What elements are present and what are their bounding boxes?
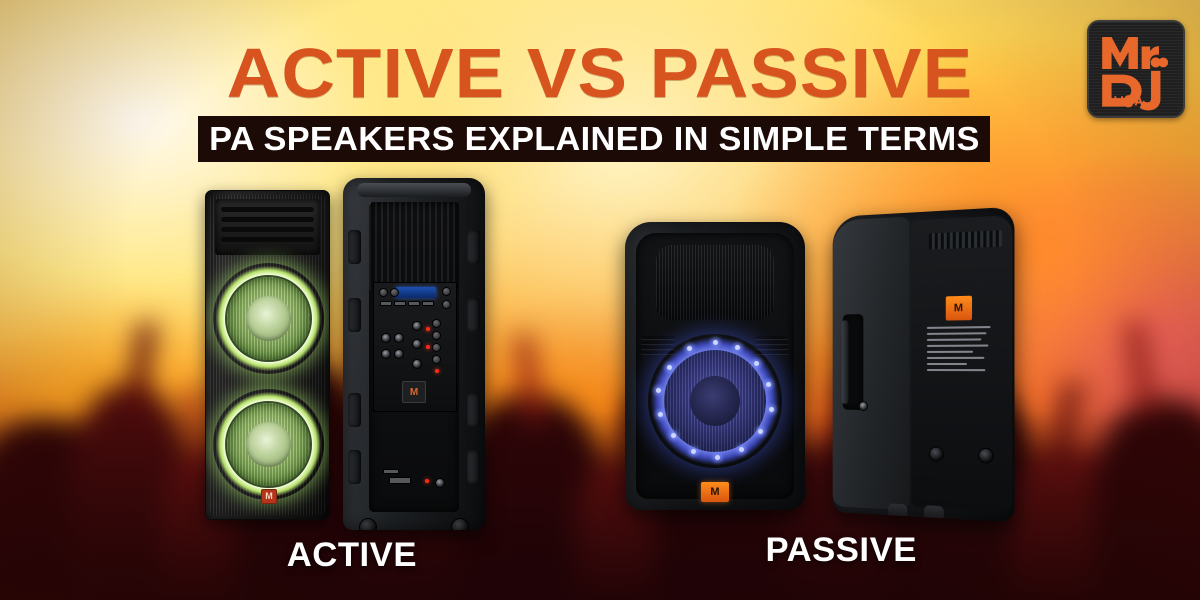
- power-inlet: [435, 478, 445, 488]
- spec-text-lines: [927, 326, 994, 375]
- mr-dj-usa-logo[interactable]: [1087, 20, 1185, 118]
- spec-brand-badge: M: [945, 296, 971, 321]
- tweeter-grille: [656, 245, 775, 320]
- power-switch: [389, 477, 411, 484]
- side-handle: [467, 230, 480, 264]
- clip-led: [426, 327, 430, 331]
- side-handle: [348, 450, 361, 484]
- xlr-jack: [381, 349, 391, 359]
- spec-label: M: [927, 296, 994, 426]
- product-active-front[interactable]: M: [205, 190, 330, 520]
- xlr-jack: [394, 333, 404, 343]
- side-handle: [348, 230, 361, 264]
- power-led: [435, 369, 439, 373]
- xlr-jack: [381, 333, 391, 343]
- side-handle: [348, 298, 361, 332]
- input-jack: [412, 339, 422, 349]
- top-handle: [357, 183, 471, 197]
- woofer: [648, 334, 782, 468]
- woofer-top: [213, 263, 324, 374]
- carry-handle: [842, 320, 848, 403]
- input-jack: [412, 321, 422, 331]
- speaker-cabinet: M: [625, 222, 805, 510]
- amplifier-panel[interactable]: M: [373, 282, 457, 412]
- product-passive-front[interactable]: M: [625, 222, 805, 510]
- xlr-jack: [394, 349, 404, 359]
- subtitle-banner: PA SPEAKERS EXPLAINED IN SIMPLE TERMS: [198, 116, 990, 162]
- lcd-display: [396, 287, 436, 298]
- brand-badge: M: [261, 489, 277, 504]
- rear-ribs: [369, 202, 459, 290]
- side-handle: [467, 450, 480, 484]
- caster-wheel: [451, 518, 469, 530]
- woofer-bottom: [213, 389, 324, 500]
- caster-wheel: [359, 518, 377, 530]
- power-indicator: [425, 479, 429, 483]
- side-handle: [348, 393, 361, 427]
- brand-badge: M: [701, 482, 729, 502]
- rear-face: M: [911, 215, 1012, 512]
- speakon-connector[interactable]: [978, 448, 993, 464]
- poster-canvas: ACTIVE VS PASSIVE PA SPEAKERS EXPLAINED …: [0, 0, 1200, 600]
- cabinet-side: [833, 217, 910, 511]
- caption-active: ACTIVE: [287, 538, 417, 572]
- product-passive-rear[interactable]: M: [828, 212, 1013, 517]
- input-jack: [412, 359, 422, 369]
- heat-vents: [929, 230, 1002, 250]
- subtitle-text: PA SPEAKERS EXPLAINED IN SIMPLE TERMS: [209, 120, 980, 158]
- caption-passive: PASSIVE: [766, 533, 917, 567]
- side-handle: [467, 298, 480, 332]
- clip-led: [426, 345, 430, 349]
- pole-socket: [858, 401, 867, 411]
- horn-panel: [215, 199, 320, 255]
- speakon-connector[interactable]: [929, 446, 944, 462]
- speaker-cabinet: M: [205, 190, 330, 520]
- page-title: ACTIVE VS PASSIVE: [0, 36, 1200, 110]
- amp-brand-badge: M: [402, 381, 426, 403]
- speaker-cabinet-rear: M: [343, 178, 485, 530]
- product-active-rear[interactable]: M: [343, 178, 485, 530]
- led-ring: [648, 334, 782, 468]
- speaker-cabinet-rear: M: [833, 207, 1015, 523]
- side-handle: [467, 393, 480, 427]
